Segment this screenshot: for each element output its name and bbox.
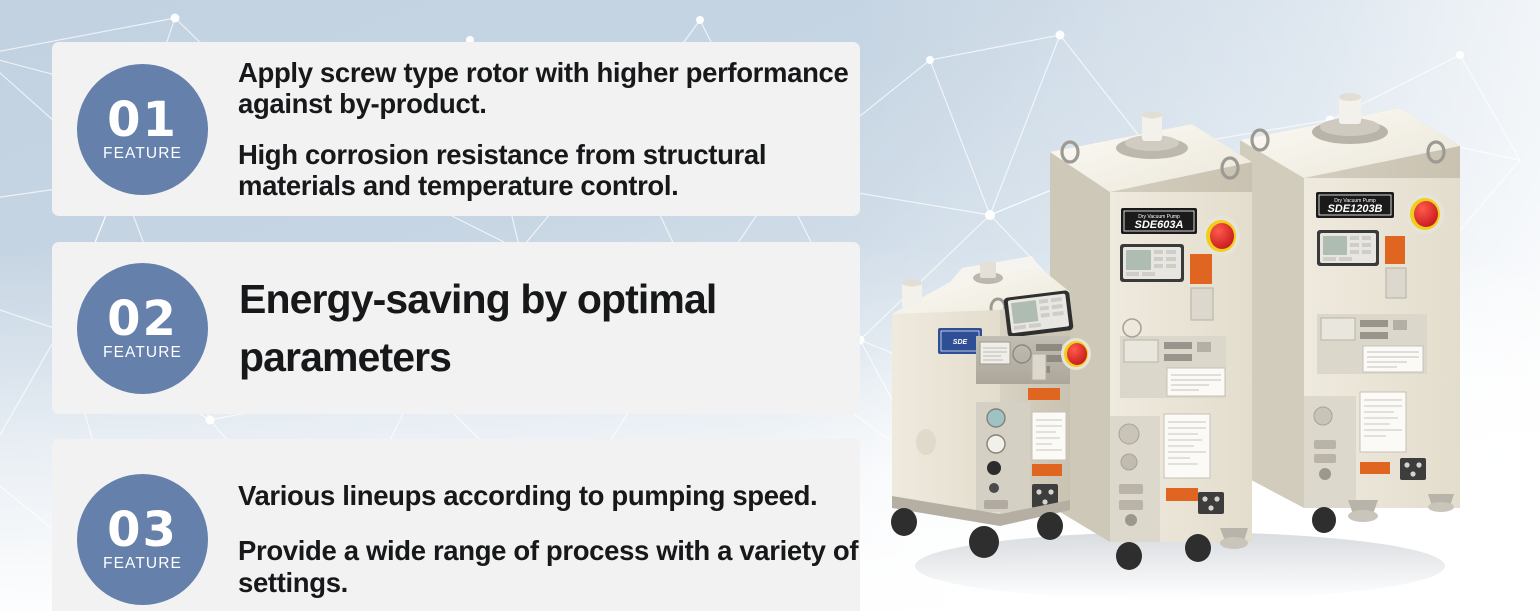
access-port-front [1032,354,1046,380]
caution-label-middle [1166,488,1198,501]
warning-label-rear [1385,236,1405,264]
emergency-stop-middle[interactable] [1202,216,1240,256]
feature-paragraph: Provide a wide range of process with a v… [238,535,860,597]
emergency-stop-rear[interactable] [1406,194,1444,234]
feature-badge-03: 03 FEATURE [77,474,208,605]
feature-badge-01: 01 FEATURE [77,64,208,195]
feature-text-02: Energy-saving by optimal parameters [239,270,860,386]
vacuum-pumps-illustration: Dry Vacuum Pump SDE1203B [880,96,1480,611]
side-port-front [916,429,936,455]
feature-number: 01 [107,97,178,143]
nameplate-front: SDE [938,328,982,354]
pump-unit-rear: Dry Vacuum Pump SDE1203B [1240,93,1460,533]
svg-text:SDE: SDE [953,339,968,346]
caution-label-rear [1360,462,1390,474]
feature-card-01: 01 FEATURE Apply screw type rotor with h… [52,42,860,216]
feature-label: FEATURE [103,345,182,361]
feature-text-01: Apply screw type rotor with higher perfo… [238,57,860,200]
feature-text-03: Various lineups according to pumping spe… [238,480,860,597]
svg-text:SDE603A: SDE603A [1135,219,1184,231]
controller-panel-front[interactable] [1003,290,1073,338]
feature-paragraph: High corrosion resistance from structura… [238,139,860,201]
emergency-stop-front[interactable] [1061,338,1091,370]
spec-label-rear [1360,392,1406,452]
pump-unit-front: SDE [891,256,1091,558]
feature-card-02: 02 FEATURE Energy-saving by optimal para… [52,242,860,414]
feature-label: FEATURE [103,556,182,572]
spec-label-front [1032,412,1066,460]
connector-panel-rear [1317,314,1427,374]
feature-badge-02: 02 FEATURE [77,263,208,394]
feature-label: FEATURE [103,146,182,162]
power-connector-middle[interactable] [1198,492,1224,514]
access-port-middle [1191,288,1213,320]
feature-paragraph: Energy-saving by optimal parameters [239,270,860,386]
power-connector-rear[interactable] [1400,458,1426,480]
feature-number: 02 [107,296,178,342]
caution-label-front [1032,464,1062,476]
nameplate-middle: Dry Vacuum Pump SDE603A [1121,208,1197,234]
feature-paragraph: Various lineups according to pumping spe… [238,480,860,511]
warning-label-middle [1190,254,1212,284]
feature-list: 01 FEATURE Apply screw type rotor with h… [52,42,860,611]
nameplate-rear: Dry Vacuum Pump SDE1203B [1316,192,1394,218]
controller-panel-rear[interactable] [1317,230,1379,266]
feature-card-03: 03 FEATURE Various lineups according to … [52,439,860,611]
front-control-panel [976,336,1070,384]
feature-paragraph: Apply screw type rotor with higher perfo… [238,57,860,119]
product-photo: Dry Vacuum Pump SDE1203B [880,96,1480,611]
warning-label-front [1028,388,1060,400]
access-port-rear [1386,268,1406,298]
connector-panel-middle [1120,336,1226,398]
svg-text:SDE1203B: SDE1203B [1327,203,1382,215]
feature-number: 03 [107,507,178,553]
controller-panel-middle[interactable] [1120,244,1184,282]
